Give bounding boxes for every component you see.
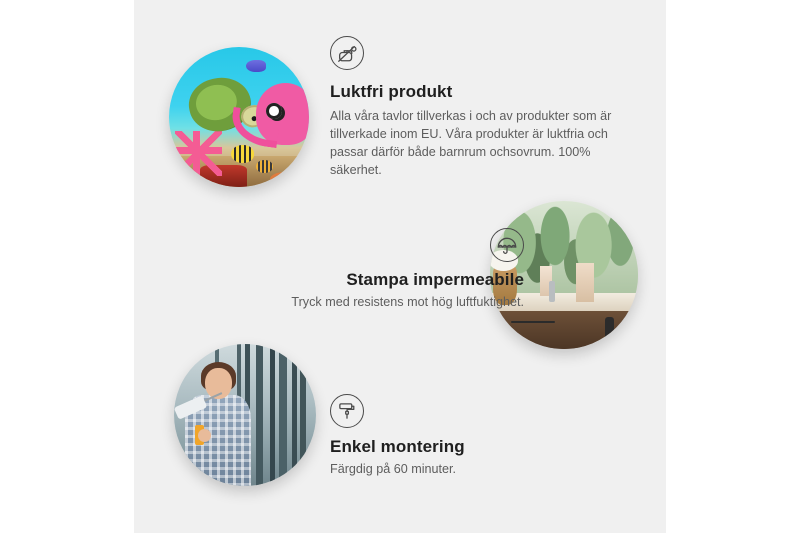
feature-description: Alla våra tavlor tillverkas i och av pro… [330,108,630,180]
forest-scene [174,344,316,486]
no-fragrance-icon [330,36,364,70]
feature-easy-mounting: Enkel montering Färgdig på 60 minuter. [330,394,610,479]
image-woman-painter-forest-wallpaper[interactable] [174,344,316,486]
content-panel: Luktfri produkt Alla våra tavlor tillver… [134,0,666,533]
feature-title: Luktfri produkt [330,82,630,102]
paint-roller-icon [330,394,364,428]
fish-blue-icon [246,60,266,73]
woman-hand [198,429,211,442]
feature-title: Enkel montering [330,437,610,457]
feature-odour-free: Luktfri produkt Alla våra tavlor tillver… [330,36,630,180]
coral-icon [175,131,223,176]
towel-right [576,263,594,301]
feature-description: Tryck med resistens mot hög luftfuktighe… [208,294,524,312]
underwater-scene [169,47,309,187]
umbrella-icon [490,228,524,262]
image-underwater-kids-mural[interactable] [169,47,309,187]
octopus-icon [256,83,309,145]
feature-title: Stampa impermeabile [208,270,524,290]
feature-description: Färgdig på 60 minuter. [330,461,610,479]
fish-icon [231,145,255,163]
faucet-icon [549,281,555,302]
feature-waterproof-print: Stampa impermeabile Tryck med resistens … [208,228,524,312]
fish-small-icon [256,160,273,173]
vanity-cabinet [490,311,638,349]
screenshot-stage: Luktfri produkt Alla våra tavlor tillver… [0,0,800,533]
